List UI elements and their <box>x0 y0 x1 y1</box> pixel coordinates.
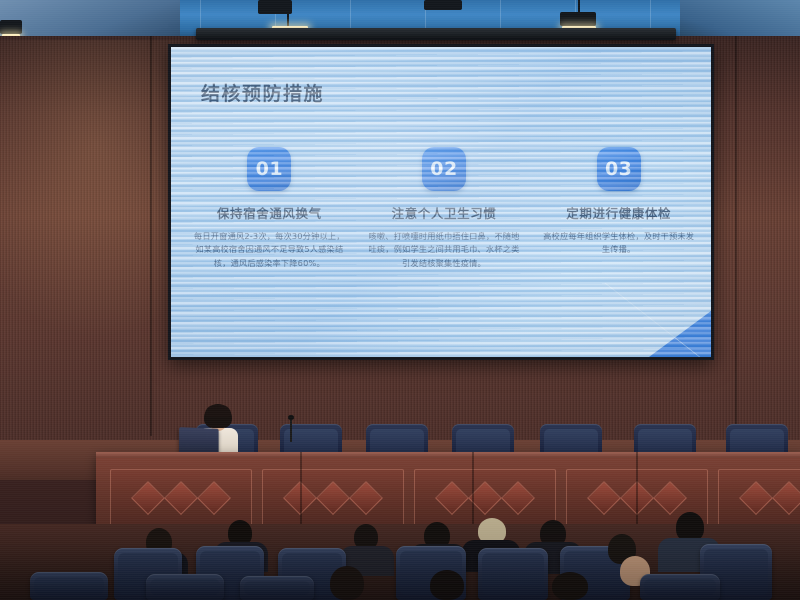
stage-light <box>424 0 462 10</box>
slide-column-3: 03 定期进行健康体检 高校应每年组织学生体检，及时干预未发生传播。 <box>534 147 703 270</box>
presenter-hair-front <box>205 405 231 417</box>
podium-panel <box>262 469 404 527</box>
slide-title: 结核预防措施 <box>201 79 324 106</box>
column-body-2: 咳嗽、打喷嚏时用纸巾捂住口鼻，不随地吐痰，例如学生之间共用毛巾、水杯之类引发结核… <box>368 230 520 270</box>
slide-column-1: 01 保持宿舍通风换气 每日开窗通风2-3次，每次30分钟以上，如某高校宿舍因通… <box>185 147 354 270</box>
stage-light <box>0 20 22 34</box>
column-heading-1: 保持宿舍通风换气 <box>217 203 322 222</box>
step-number-badge-02: 02 <box>422 147 466 191</box>
wall-seam <box>150 36 152 436</box>
projector-screen-housing <box>196 28 676 40</box>
audience-head <box>430 570 464 600</box>
column-body-3: 高校应每年组织学生体检，及时干预未发生传播。 <box>543 230 695 257</box>
projector-screen: 结核预防措施 01 保持宿舍通风换气 每日开窗通风2-3次，每次30分钟以上，如… <box>168 44 714 360</box>
presentation-slide: 结核预防措施 01 保持宿舍通风换气 每日开窗通风2-3次，每次30分钟以上，如… <box>171 47 711 357</box>
step-number-badge-01: 01 <box>247 147 291 191</box>
audience-head <box>330 566 364 600</box>
lecture-hall-scene: 结核预防措施 01 保持宿舍通风换气 每日开窗通风2-3次，每次30分钟以上，如… <box>0 0 800 600</box>
slide-corner-line <box>597 283 707 357</box>
wall-seam <box>735 36 737 436</box>
audience-seat <box>640 574 720 600</box>
column-heading-3: 定期进行健康体检 <box>566 203 671 222</box>
podium-top-edge <box>96 452 800 458</box>
slide-column-2: 02 注意个人卫生习惯 咳嗽、打喷嚏时用纸巾捂住口鼻，不随地吐痰，例如学生之间共… <box>360 147 529 270</box>
slide-columns: 01 保持宿舍通风换气 每日开窗通风2-3次，每次30分钟以上，如某高校宿舍因通… <box>185 147 703 270</box>
desk-microphone <box>290 418 292 442</box>
stage-light <box>258 0 292 14</box>
stage-light <box>560 12 596 26</box>
podium-panel <box>110 469 252 527</box>
audience-head <box>552 572 588 600</box>
step-number-badge-03: 03 <box>597 147 641 191</box>
column-body-1: 每日开窗通风2-3次，每次30分钟以上，如某高校宿舍因通风不足导致5人感染结核，… <box>193 230 345 270</box>
column-heading-2: 注意个人卫生习惯 <box>392 203 497 222</box>
podium-panel <box>718 469 800 527</box>
audience-seat <box>30 572 108 600</box>
audience-seat <box>146 574 224 600</box>
audience-seat <box>240 576 314 600</box>
audience-seat <box>478 548 548 600</box>
